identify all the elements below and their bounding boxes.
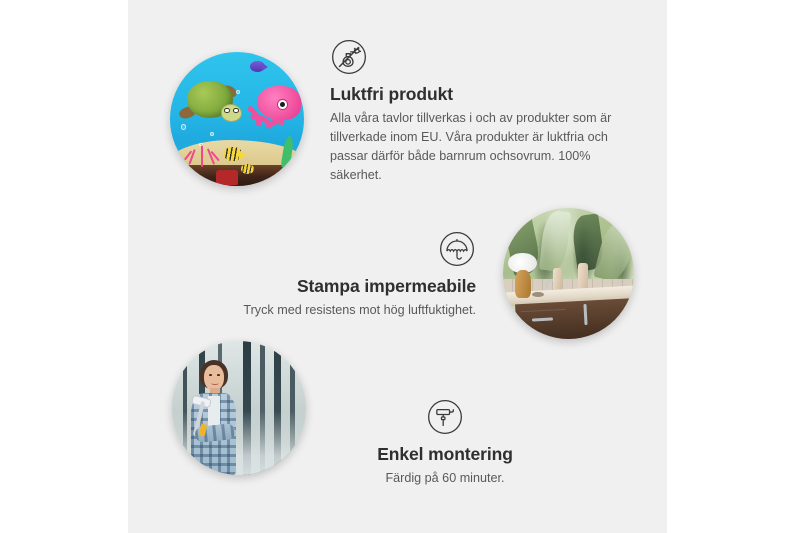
product-image-underwater	[170, 52, 304, 186]
blue-fish-icon	[250, 61, 265, 72]
feature-title: Stampa impermeabile	[180, 276, 476, 298]
feature-title: Enkel montering	[330, 444, 560, 466]
bathroom-illustration	[503, 208, 634, 339]
feature-icon-wrap	[330, 38, 632, 76]
feature-icon-wrap	[330, 398, 560, 436]
product-image-forest-mural	[172, 341, 306, 475]
sea-red-object	[216, 170, 239, 185]
woman-face	[204, 365, 224, 390]
feature-block-easy-install: Enkel montering Färdig på 60 minuter.	[330, 398, 560, 488]
octopus-eye-icon	[277, 99, 288, 110]
forest-illustration	[172, 341, 306, 475]
soap-dish-icon	[532, 292, 544, 297]
bubble-icon	[199, 143, 202, 146]
paint-roller-icon	[426, 398, 464, 436]
feature-description: Alla våra tavlor tillverkas i och av pro…	[330, 109, 632, 186]
feature-description: Tryck med resistens mot hög luftfuktighe…	[180, 301, 476, 320]
feature-icon-wrap	[180, 230, 476, 268]
umbrella-icon	[438, 230, 476, 268]
turtle-eye-icon	[224, 108, 230, 114]
woman-smile	[211, 381, 219, 384]
promo-infographic: Luktfri produkt Alla våra tavlor tillver…	[0, 0, 800, 533]
feature-block-waterproof: Stampa impermeabile Tryck med resistens …	[180, 230, 476, 320]
bottle-icon	[553, 268, 562, 290]
feature-title: Luktfri produkt	[330, 84, 632, 106]
yellow-fish-icon	[224, 147, 243, 160]
bubble-icon	[210, 132, 214, 136]
underwater-illustration	[170, 52, 304, 186]
bubble-icon	[236, 90, 241, 95]
feature-block-odorless: Luktfri produkt Alla våra tavlor tillver…	[330, 38, 632, 185]
no-spray-bottle-icon	[330, 38, 368, 76]
product-image-bathroom	[503, 208, 634, 339]
bubble-icon	[181, 124, 186, 129]
feature-description: Färdig på 60 minuter.	[330, 469, 560, 488]
vase-icon	[515, 270, 531, 299]
coral-icon	[186, 138, 220, 167]
